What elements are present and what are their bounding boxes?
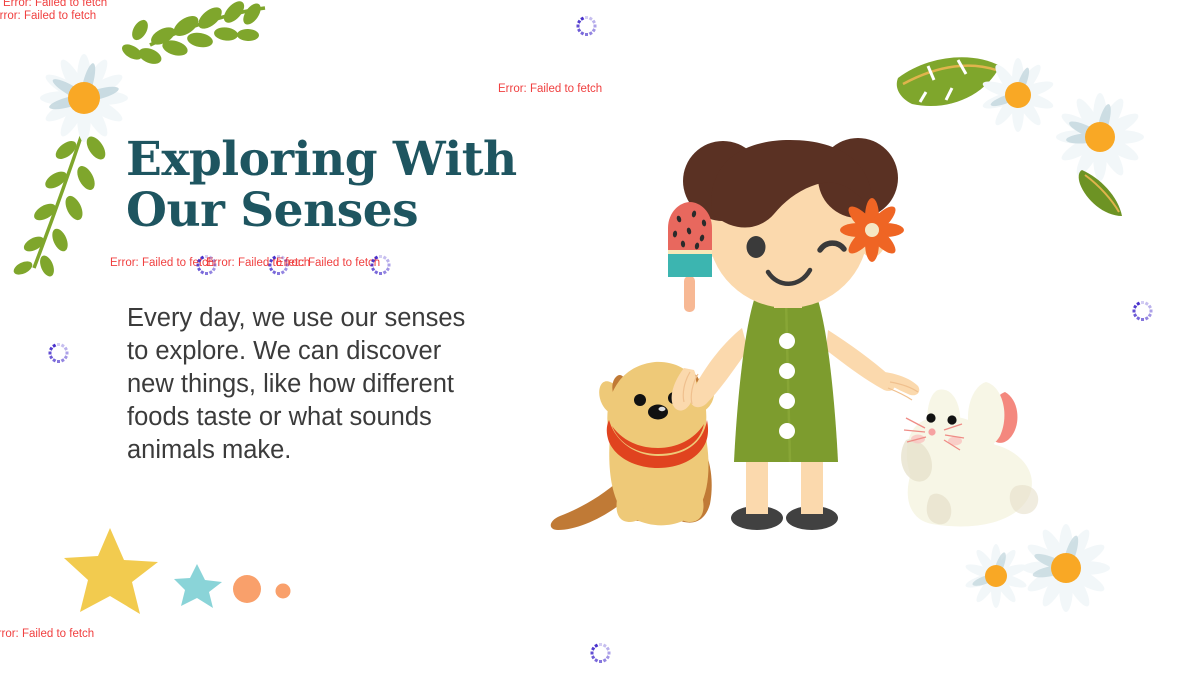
loading-spinner-icon — [576, 16, 596, 36]
girl-dress-button — [779, 423, 795, 439]
watermelon-popsicle-icon — [668, 202, 712, 312]
girl-dress-button — [779, 333, 795, 349]
dog-eye-left — [634, 394, 646, 406]
rabbit-nose — [928, 428, 935, 435]
rabbit-eye-left — [926, 413, 935, 422]
page-title: Exploring With Our Senses — [126, 134, 556, 236]
rabbit-eye-right — [947, 415, 956, 424]
girl-dress-button — [779, 363, 795, 379]
loading-spinner-icon — [268, 255, 288, 275]
error-message: Error: Failed to fetch — [498, 82, 602, 96]
error-message: Error: Failed to fetch — [0, 9, 96, 23]
page-title-line-2: Our Senses — [126, 185, 556, 236]
loading-spinner-icon — [590, 643, 610, 663]
girl-hair-flower-icon — [840, 198, 904, 262]
loading-spinner-icon — [48, 343, 68, 363]
body-paragraph: Every day, we use our senses to explore.… — [127, 302, 477, 467]
loading-spinner-icon — [1132, 301, 1152, 321]
loading-spinner-icon — [196, 255, 216, 275]
rabbit-character — [901, 382, 1038, 526]
loading-spinner-icon — [370, 255, 390, 275]
dog-nose — [648, 405, 668, 420]
slide-canvas: Exploring With Our Senses Every day, we … — [0, 0, 1200, 675]
page-title-line-1: Exploring With — [126, 134, 556, 185]
girl-dress-button — [779, 393, 795, 409]
error-message: Error: Failed to fetch — [0, 627, 94, 641]
error-message: Error: Failed to fetch — [276, 256, 380, 270]
girl-eye-left — [747, 236, 766, 258]
